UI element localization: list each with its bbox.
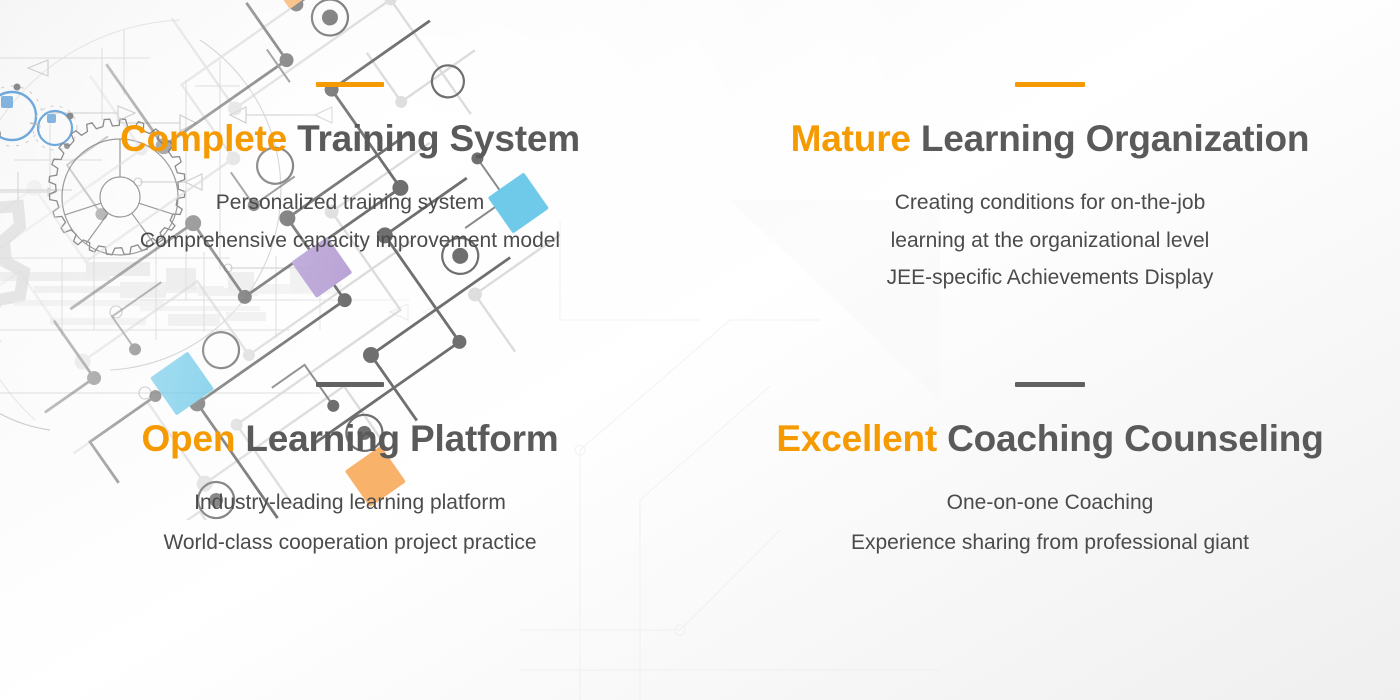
panel-line: JEE-specific Achievements Display bbox=[887, 264, 1214, 292]
panel-title-rest: Coaching Counseling bbox=[937, 418, 1324, 459]
panel-line: learning at the organizational level bbox=[891, 227, 1210, 255]
feature-panel-open-learning-platform: Open Learning Platform Industry-leading … bbox=[0, 350, 700, 700]
panel-title-rest: Learning Platform bbox=[235, 418, 558, 459]
panel-divider bbox=[1015, 382, 1085, 387]
feature-panel-excellent-coaching-counseling: Excellent Coaching Counseling One-on-one… bbox=[700, 350, 1400, 700]
feature-grid: Complete Training System Personalized tr… bbox=[0, 0, 1400, 700]
panel-title-accent: Complete bbox=[120, 118, 287, 159]
panel-title: Mature Learning Organization bbox=[791, 120, 1310, 159]
panel-title: Open Learning Platform bbox=[141, 420, 558, 459]
panel-body: One-on-one Coaching Experience sharing f… bbox=[851, 489, 1249, 556]
panel-line: Experience sharing from professional gia… bbox=[851, 529, 1249, 557]
panel-divider bbox=[1015, 82, 1085, 87]
panel-line: Creating conditions for on-the-job bbox=[895, 189, 1206, 217]
panel-title-rest: Training System bbox=[287, 118, 580, 159]
panel-title: Excellent Coaching Counseling bbox=[776, 420, 1323, 459]
panel-line: Comprehensive capacity improvement model bbox=[140, 227, 560, 255]
panel-body: Personalized training system Comprehensi… bbox=[140, 189, 560, 254]
panel-title-accent: Open bbox=[141, 418, 235, 459]
panel-line: Industry-leading learning platform bbox=[194, 489, 506, 517]
feature-panel-complete-training-system: Complete Training System Personalized tr… bbox=[0, 0, 700, 350]
panel-line: World-class cooperation project practice bbox=[163, 529, 536, 557]
panel-divider bbox=[316, 82, 384, 87]
slide-canvas: Complete Training System Personalized tr… bbox=[0, 0, 1400, 700]
panel-divider bbox=[316, 382, 384, 387]
panel-title-accent: Mature bbox=[791, 118, 911, 159]
feature-panel-mature-learning-organization: Mature Learning Organization Creating co… bbox=[700, 0, 1400, 350]
panel-body: Industry-leading learning platform World… bbox=[163, 489, 536, 556]
panel-line: One-on-one Coaching bbox=[947, 489, 1154, 517]
panel-body: Creating conditions for on-the-job learn… bbox=[887, 189, 1214, 292]
panel-line: Personalized training system bbox=[216, 189, 484, 217]
panel-title: Complete Training System bbox=[120, 120, 580, 159]
panel-title-accent: Excellent bbox=[776, 418, 937, 459]
panel-title-rest: Learning Organization bbox=[911, 118, 1310, 159]
